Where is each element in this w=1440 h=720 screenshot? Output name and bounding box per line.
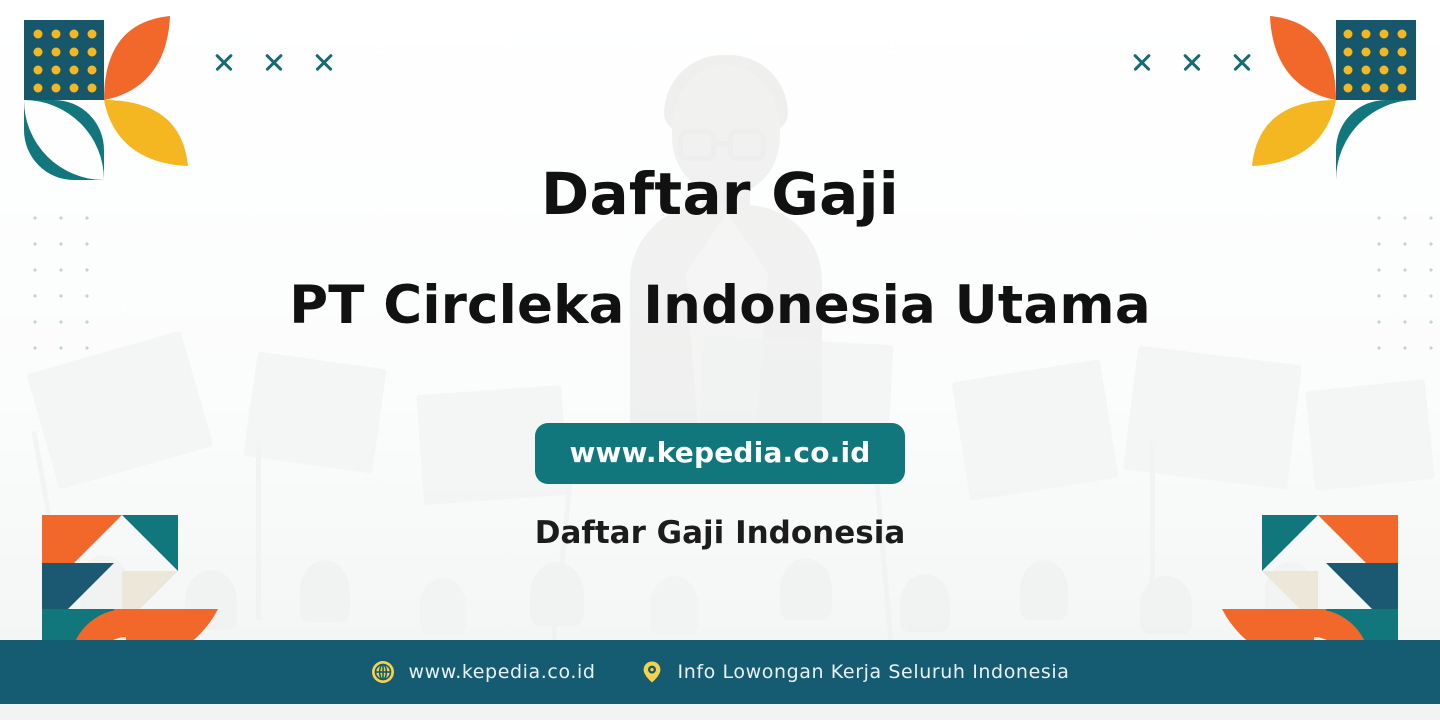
x-icon <box>262 50 286 74</box>
x-icon <box>212 50 236 74</box>
ornament-top-right <box>1232 14 1422 184</box>
flag-shape <box>1305 379 1435 491</box>
crowd-head <box>780 558 832 620</box>
triangle-teal <box>1262 515 1318 571</box>
footer-website-item[interactable]: www.kepedia.co.id <box>371 660 596 684</box>
footer-website-label: www.kepedia.co.id <box>409 661 596 683</box>
flag-pole <box>256 440 261 620</box>
x-marks-left <box>212 50 336 74</box>
person-glasses-left <box>678 129 716 161</box>
petal-orange <box>1270 16 1336 100</box>
x-icon <box>1130 50 1154 74</box>
ornament-top-right-svg <box>1232 14 1422 184</box>
petal-orange <box>104 16 170 100</box>
crowd-head <box>1020 560 1068 620</box>
crowd-head <box>420 578 466 634</box>
footer-tagline-item: Info Lowongan Kerja Seluruh Indonesia <box>640 660 1070 684</box>
crowd-head <box>530 562 584 626</box>
person-glasses-right <box>728 129 766 161</box>
poster-canvas: Daftar Gaji PT Circleka Indonesia Utama … <box>0 0 1440 720</box>
location-pin-icon <box>640 660 664 684</box>
crowd-head <box>650 576 698 634</box>
crowd-head <box>1140 576 1192 634</box>
ornament-top-left <box>18 14 208 184</box>
crowd-head <box>300 560 350 622</box>
ring-teal-arc <box>1336 100 1416 180</box>
ornament-top-left-svg <box>18 14 208 184</box>
flag-shape <box>243 351 386 473</box>
crowd-head <box>900 574 950 632</box>
dot-grid-left <box>22 205 96 365</box>
footer-bar: www.kepedia.co.id Info Lowongan Kerja Se… <box>0 640 1440 704</box>
triangle-teal <box>122 515 178 571</box>
footer-tagline-label: Info Lowongan Kerja Seluruh Indonesia <box>678 661 1070 683</box>
x-icon <box>1180 50 1204 74</box>
website-badge[interactable]: www.kepedia.co.id <box>535 423 904 484</box>
petal-yellow <box>104 100 188 166</box>
person-glasses-bridge <box>716 141 730 146</box>
petal-yellow <box>1252 100 1336 166</box>
globe-icon <box>371 660 395 684</box>
x-icon <box>312 50 336 74</box>
dot-grid-right <box>1366 205 1440 365</box>
flag-shape <box>952 359 1119 501</box>
